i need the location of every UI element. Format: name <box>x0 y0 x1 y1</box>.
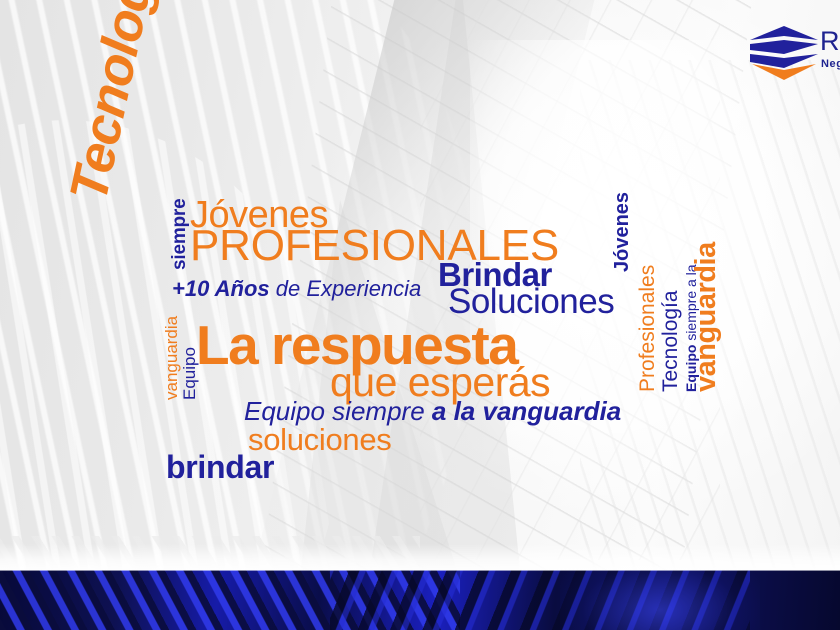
word-anos-experiencia: +10 Años de Experiencia <box>172 278 421 300</box>
slide-canvas: RC Neg Tecnología siempre Jóvenes PROFES… <box>0 0 840 630</box>
word-equipo-siempre-vanguardia: Equipo siempre a la vanguardia <box>244 398 621 424</box>
anos-rest: de Experiencia <box>276 276 422 301</box>
word-vanguardia-right: vanguardia <box>692 242 721 392</box>
logo-tagline: Neg <box>821 58 840 70</box>
logo-wordmark: RC <box>820 28 840 55</box>
word-siempre-left: siempre <box>170 199 189 270</box>
word-brindar-blue: brindar <box>166 451 274 483</box>
word-vanguardia-left: vanguardia <box>163 316 180 400</box>
anos-bold: +10 Años <box>172 276 270 301</box>
brand-logo[interactable]: RC Neg <box>748 22 840 84</box>
band-light-glow <box>560 570 760 630</box>
word-jovenes-right: Jóvenes <box>612 192 632 272</box>
a-la-vanguardia-part: a la vanguardia <box>432 396 621 426</box>
bottom-navy-band <box>0 570 840 630</box>
word-tecnologia-right: Tecnología <box>660 290 681 392</box>
band-upper-fade <box>0 544 840 570</box>
band-top-edge <box>0 570 840 571</box>
stacked-chevron-logo-mark <box>748 24 820 82</box>
word-profesionales-right: Profesionales <box>637 265 658 392</box>
